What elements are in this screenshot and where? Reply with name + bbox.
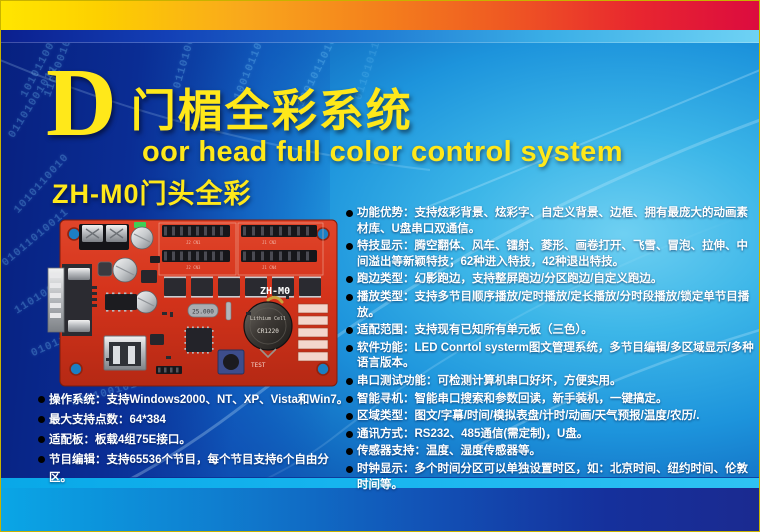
feature-item: 播放类型：支持多节目顺序播放/定时播放/定长播放/分时段播放/锁定单节目播放。 (346, 290, 756, 321)
product-model-title: ZH-M0门头全彩 (52, 172, 252, 211)
bullet-dot-icon (38, 416, 45, 423)
feature-text: 适配范围：支持现有已知所有单元板（三色）。 (357, 323, 756, 339)
bullet-dot-icon (346, 378, 353, 385)
feature-text: 功能优势：支持炫彩背景、炫彩字、自定义背景、边框、拥有最庞大的动画素材库、U盘串… (357, 206, 756, 237)
feature-text: 串口测试功能：可检测计算机串口好坏，方便实用。 (357, 374, 756, 390)
bullet-dot-icon (38, 396, 45, 403)
top-blue-strip (0, 30, 760, 43)
poster-root: 10101100101 01101001011 110100101101 101… (0, 0, 760, 532)
top-gradient-bar (0, 0, 760, 31)
feature-item: 功能优势：支持炫彩背景、炫彩字、自定义背景、边框、拥有最庞大的动画素材库、U盘串… (346, 206, 756, 237)
feature-text: 时钟显示：多个时间分区可以单独设置时区，如：北京时间、纽约时间、伦敦时间等。 (357, 462, 756, 493)
headline-english: oor head full color control system (142, 136, 706, 169)
spec-item: 操作系统：支持Windows2000、NT、XP、Vista和Win7。 (38, 392, 350, 410)
feature-item: 区域类型：图文/字幕/时间/模拟表盘/计时/动画/天气预报/温度/农历/. (346, 409, 756, 425)
feature-item: 特技显示：腾空翻体、风车、镭射、菱形、画卷打开、飞雪、冒泡、拉伸、中间溢出等新颖… (346, 239, 756, 270)
spec-list: 操作系统：支持Windows2000、NT、XP、Vista和Win7。 最大支… (38, 392, 350, 490)
spec-text: 最大支持点数：64*384 (49, 412, 350, 430)
pcb-board-image: J2 CN1J2 CN3 J1 CN2J1 CN4 (46, 216, 346, 396)
pcb-test-button-label: TEST (251, 362, 266, 369)
bullet-dot-icon (346, 345, 353, 352)
spec-item: 适配板：板载4组75E接口。 (38, 432, 350, 450)
feature-item: 传感器支持：温度、湿度传感器等。 (346, 444, 756, 460)
headline-block: D 门楣全彩系统 oor head full color control sys… (46, 58, 706, 169)
feature-text: 传感器支持：温度、湿度传感器等。 (357, 444, 756, 460)
feature-text: 跑边类型：幻影跑边，支持整屏跑边/分区跑边/自定义跑边。 (357, 272, 756, 288)
feature-text: 智能寻机：智能串口搜索和参数回读，新手装机，一键搞定。 (357, 392, 756, 408)
svg-text:J2 CN1: J2 CN1 (186, 240, 201, 245)
spec-item: 最大支持点数：64*384 (38, 412, 350, 430)
bullet-dot-icon (346, 327, 353, 334)
feature-text: 特技显示：腾空翻体、风车、镭射、菱形、画卷打开、飞雪、冒泡、拉伸、中间溢出等新颖… (357, 239, 756, 270)
feature-item: 软件功能：LED Conrtol systerm图文管理系统，多节目编辑/多区域… (346, 341, 756, 372)
feature-text: 播放类型：支持多节目顺序播放/定时播放/定长播放/分时段播放/锁定单节目播放。 (357, 290, 756, 321)
feature-item: 串口测试功能：可检测计算机串口好坏，方便实用。 (346, 374, 756, 390)
pcb-model-silkscreen: ZH-M0 (260, 286, 290, 297)
svg-text:J1 CN4: J1 CN4 (262, 265, 277, 270)
feature-list: 功能优势：支持炫彩背景、炫彩字、自定义背景、边框、拥有最庞大的动画素材库、U盘串… (346, 206, 756, 495)
bullet-dot-icon (346, 276, 353, 283)
feature-text: 通讯方式：RS232、485通信(需定制)，U盘。 (357, 427, 756, 443)
spec-text: 节目编辑：支持65536个节目，每个节目支持6个自由分区。 (49, 452, 350, 487)
feature-item: 跑边类型：幻影跑边，支持整屏跑边/分区跑边/自定义跑边。 (346, 272, 756, 288)
bullet-dot-icon (346, 210, 353, 217)
svg-text:Lithium Cell: Lithium Cell (250, 316, 286, 322)
pcb-battery-label: CR1220 (257, 328, 279, 335)
bullet-dot-icon (346, 294, 353, 301)
spec-item: 节目编辑：支持65536个节目，每个节目支持6个自由分区。 (38, 452, 350, 487)
svg-text:J2 CN3: J2 CN3 (186, 265, 201, 270)
bullet-dot-icon (38, 456, 45, 463)
feature-item: 通讯方式：RS232、485通信(需定制)，U盘。 (346, 427, 756, 443)
feature-item: 智能寻机：智能串口搜索和参数回读，新手装机，一键搞定。 (346, 392, 756, 408)
svg-text:J1 CN2: J1 CN2 (262, 240, 277, 245)
pcb-crystal-label: 25.000 (192, 309, 214, 316)
feature-text: 软件功能：LED Conrtol systerm图文管理系统，多节目编辑/多区域… (357, 341, 756, 372)
spec-text: 适配板：板载4组75E接口。 (49, 432, 350, 450)
feature-item: 适配范围：支持现有已知所有单元板（三色）。 (346, 323, 756, 339)
headline-drop-cap: D (46, 58, 117, 148)
bullet-dot-icon (38, 436, 45, 443)
bullet-dot-icon (346, 243, 353, 250)
feature-text: 区域类型：图文/字幕/时间/模拟表盘/计时/动画/天气预报/温度/农历/. (357, 409, 756, 425)
feature-item: 时钟显示：多个时间分区可以单独设置时区，如：北京时间、纽约时间、伦敦时间等。 (346, 462, 756, 493)
spec-text: 操作系统：支持Windows2000、NT、XP、Vista和Win7。 (49, 392, 350, 410)
